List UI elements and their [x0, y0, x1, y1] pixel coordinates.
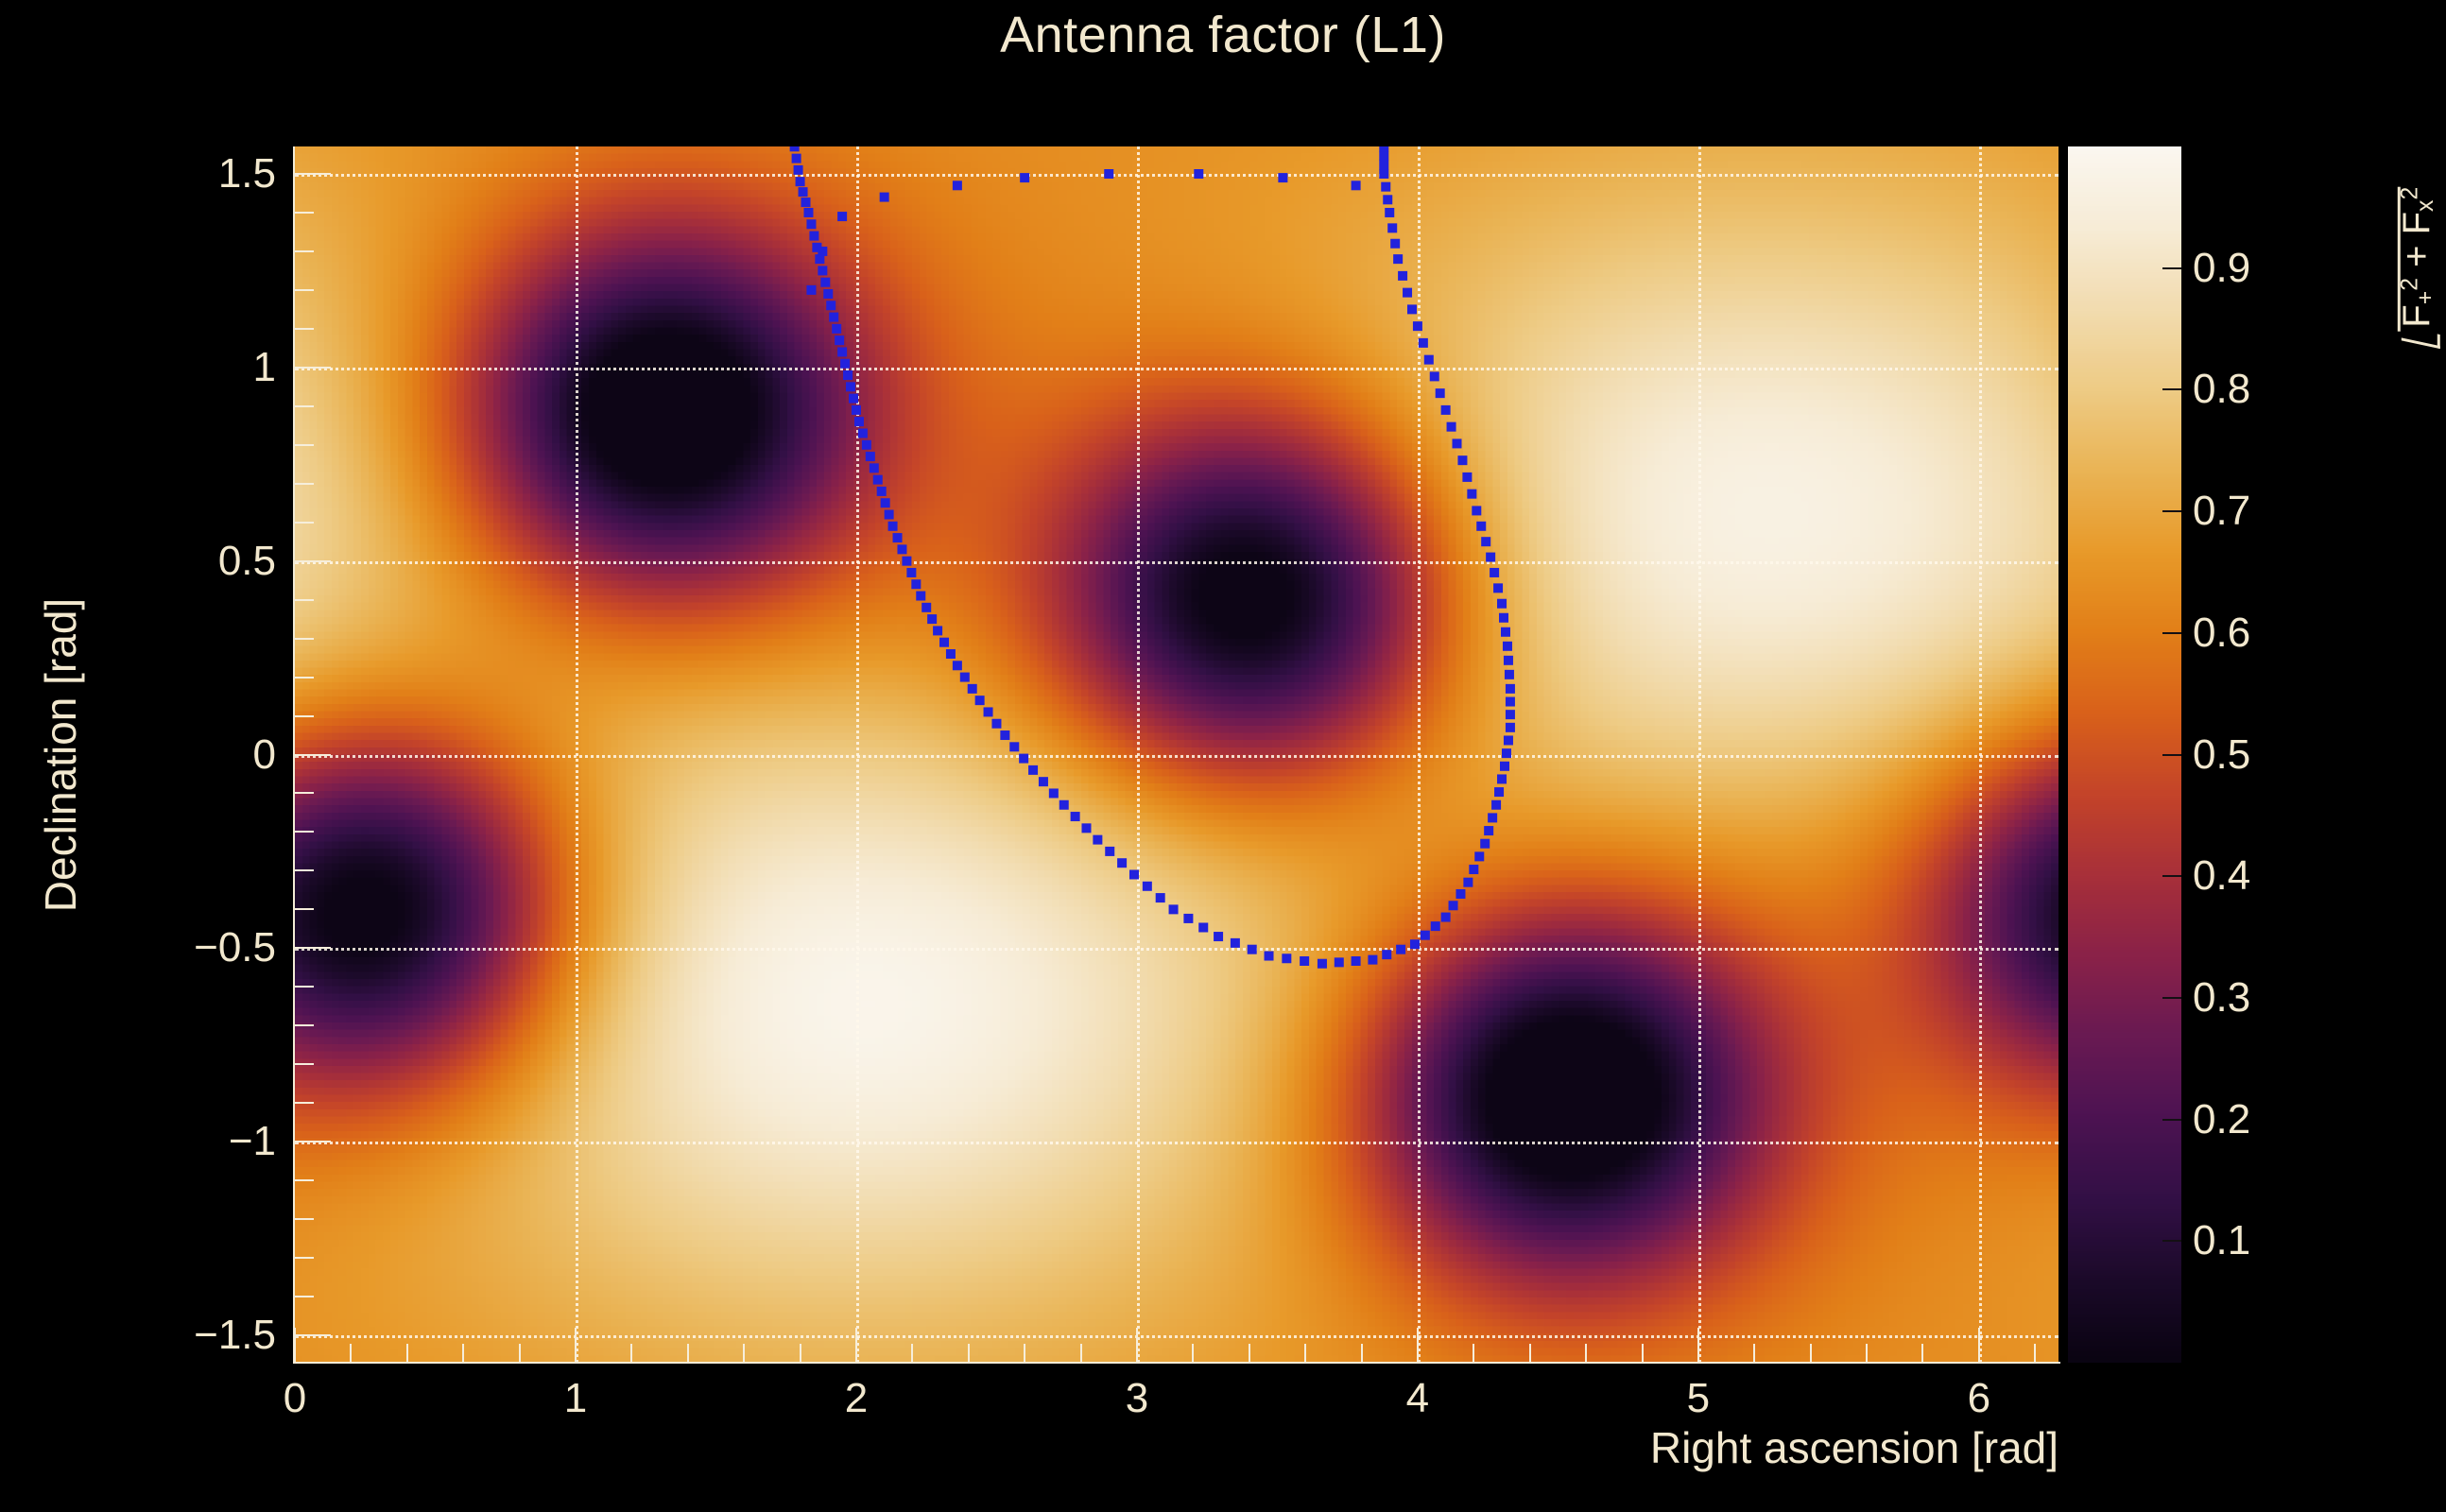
- y-tick-minor: [295, 1102, 314, 1104]
- y-tick-label: −0.5: [194, 924, 276, 971]
- x-tick-minor: [687, 1344, 689, 1362]
- x-tick-minor: [630, 1344, 632, 1362]
- y-tick-minor: [295, 250, 314, 252]
- heatmap-image: [295, 146, 2058, 1363]
- colorbar-tick: [2162, 267, 2181, 269]
- colorbar-tick: [2162, 754, 2181, 756]
- x-tick-minor: [1642, 1344, 1644, 1362]
- y-tick-minor: [295, 869, 314, 871]
- x-axis-line: [293, 1362, 2060, 1364]
- y-tick-minor: [295, 792, 314, 794]
- colorbar-tick-label: 0.8: [2193, 366, 2250, 413]
- y-tick-minor: [295, 677, 314, 679]
- x-tick-minor: [1080, 1344, 1082, 1362]
- y-tick-minor: [295, 1024, 314, 1026]
- x-tick-major: [1136, 1328, 1138, 1362]
- y-tick-major: [295, 560, 331, 562]
- x-tick-label: 4: [1406, 1375, 1429, 1422]
- colorbar-tick-label: 0.3: [2193, 974, 2250, 1022]
- y-tick-minor: [295, 1063, 314, 1065]
- x-tick-major: [575, 1328, 577, 1362]
- z-axis-title-wrap: F+2 + Fx2: [2361, 142, 2446, 425]
- page-title: Antenna factor (L1): [0, 6, 2446, 64]
- heatmap-plot-area: [295, 146, 2058, 1363]
- x-tick-minor: [1361, 1344, 1363, 1362]
- x-tick-minor: [1024, 1344, 1025, 1362]
- x-tick-major: [1417, 1328, 1419, 1362]
- x-tick-label: 1: [564, 1375, 587, 1422]
- colorbar-tick: [2162, 1240, 2181, 1242]
- colorbar-tick-label: 0.2: [2193, 1096, 2250, 1143]
- colorbar-tick-label: 0.1: [2193, 1217, 2250, 1264]
- z-axis-title-expression: F+2 + Fx2: [2396, 187, 2437, 328]
- y-tick-label: 1.5: [218, 150, 276, 198]
- y-axis-title-wrap: Declination [rad]: [0, 146, 123, 1363]
- y-tick-minor: [295, 212, 314, 214]
- x-tick-minor: [1753, 1344, 1755, 1362]
- colorbar-tick-label: 0.5: [2193, 731, 2250, 779]
- x-tick-label: 0: [284, 1375, 306, 1422]
- y-tick-label: 0: [253, 731, 276, 779]
- y-tick-minor: [295, 715, 314, 717]
- x-tick-minor: [911, 1344, 913, 1362]
- x-tick-minor: [1473, 1344, 1474, 1362]
- x-tick-minor: [1585, 1344, 1587, 1362]
- x-tick-minor: [1866, 1344, 1868, 1362]
- y-tick-minor: [295, 289, 314, 291]
- colorbar-tick-label: 0.4: [2193, 852, 2250, 900]
- plot-canvas: Antenna factor (L1) 1.510.50−0.5−1−1.501…: [0, 0, 2446, 1512]
- y-tick-minor: [295, 522, 314, 524]
- x-tick-minor: [968, 1344, 970, 1362]
- y-tick-minor: [295, 405, 314, 407]
- x-axis-title: Right ascension [rad]: [1650, 1422, 2058, 1473]
- y-tick-label: −1: [229, 1118, 276, 1165]
- y-tick-minor: [295, 1218, 314, 1220]
- x-tick-minor: [800, 1344, 801, 1362]
- y-tick-label: 0.5: [218, 538, 276, 585]
- y-tick-minor: [295, 986, 314, 988]
- y-tick-minor: [295, 638, 314, 640]
- y-tick-minor: [295, 1296, 314, 1297]
- colorbar-tick: [2162, 875, 2181, 877]
- y-tick-major: [295, 1334, 331, 1336]
- z-axis-title: F+2 + Fx2: [2396, 187, 2439, 349]
- x-tick-minor: [1304, 1344, 1306, 1362]
- colorbar-tick-label: 0.6: [2193, 610, 2250, 657]
- y-tick-major: [295, 367, 331, 369]
- x-tick-minor: [519, 1344, 521, 1362]
- x-tick-minor: [1249, 1344, 1250, 1362]
- y-tick-minor: [295, 444, 314, 446]
- x-tick-major: [1697, 1328, 1699, 1362]
- y-tick-minor: [295, 1179, 314, 1181]
- x-tick-minor: [1192, 1344, 1194, 1362]
- colorbar-tick: [2162, 1119, 2181, 1121]
- x-tick-major: [855, 1328, 857, 1362]
- y-tick-major: [295, 173, 331, 175]
- y-tick-minor: [295, 1257, 314, 1259]
- x-tick-minor: [350, 1344, 352, 1362]
- x-tick-minor: [1529, 1344, 1531, 1362]
- x-tick-label: 2: [845, 1375, 868, 1422]
- y-tick-minor: [295, 831, 314, 833]
- x-tick-minor: [462, 1344, 464, 1362]
- colorbar-tick: [2162, 388, 2181, 390]
- y-tick-minor: [295, 328, 314, 330]
- y-tick-label: 1: [253, 344, 276, 391]
- sqrt-icon: F+2 + Fx2: [2396, 187, 2439, 349]
- colorbar-tick: [2162, 632, 2181, 634]
- colorbar-tick: [2162, 510, 2181, 512]
- y-tick-major: [295, 1141, 331, 1143]
- x-tick-minor: [743, 1344, 745, 1362]
- x-tick-major: [1978, 1328, 1980, 1362]
- y-tick-major: [295, 754, 331, 756]
- x-tick-label: 6: [1968, 1375, 1990, 1422]
- colorbar-tick: [2162, 997, 2181, 999]
- y-tick-minor: [295, 483, 314, 485]
- x-tick-label: 5: [1687, 1375, 1710, 1422]
- colorbar-tick-label: 0.9: [2193, 245, 2250, 292]
- y-tick-minor: [295, 599, 314, 601]
- x-tick-minor: [1921, 1344, 1923, 1362]
- x-tick-minor: [1810, 1344, 1812, 1362]
- x-tick-minor: [406, 1344, 408, 1362]
- y-tick-major: [295, 947, 331, 949]
- x-tick-label: 3: [1126, 1375, 1148, 1422]
- x-tick-minor: [2034, 1344, 2036, 1362]
- y-tick-minor: [295, 908, 314, 910]
- colorbar-tick-label: 0.7: [2193, 488, 2250, 535]
- x-tick-major: [294, 1328, 296, 1362]
- y-axis-title: Declination [rad]: [35, 597, 86, 911]
- y-tick-label: −1.5: [194, 1312, 276, 1359]
